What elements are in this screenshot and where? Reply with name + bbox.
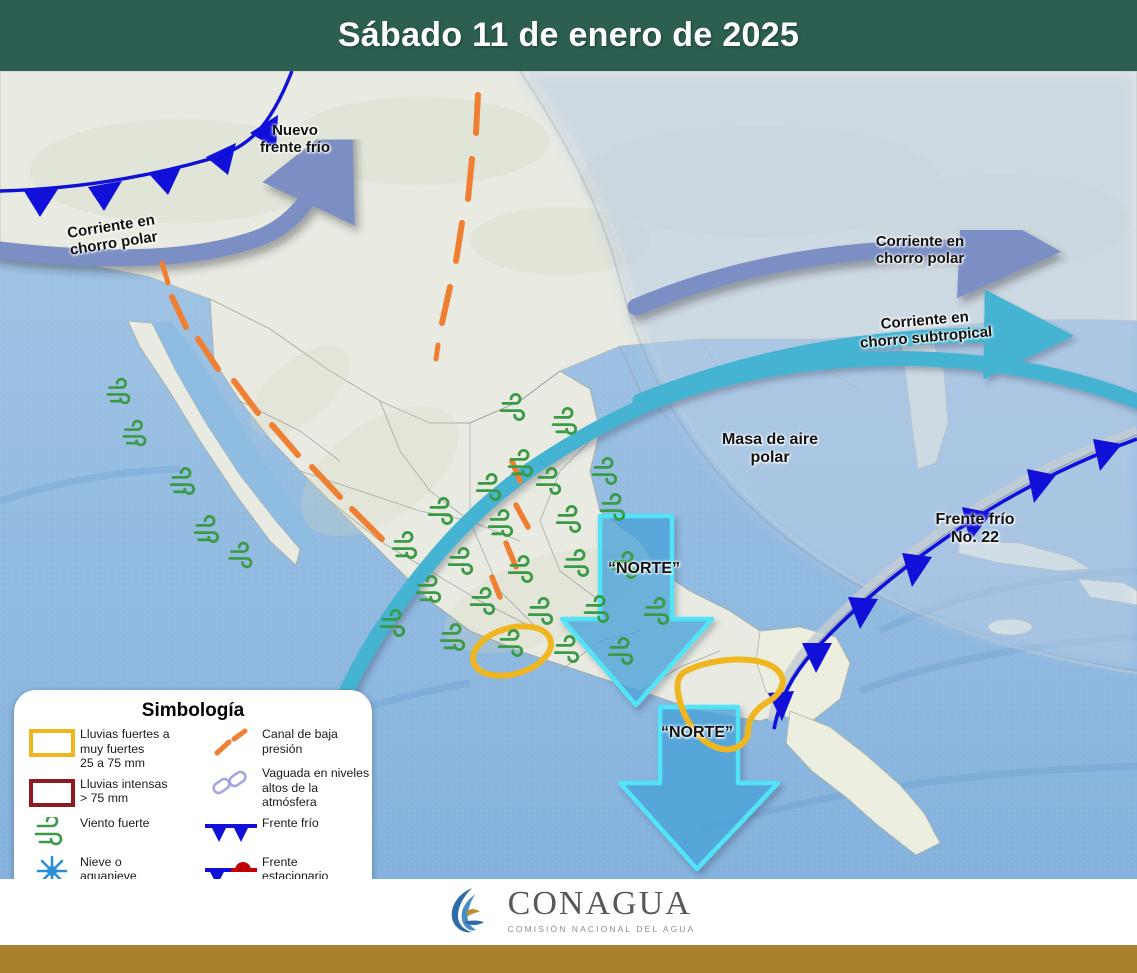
cold-front-icon [200,815,262,849]
chain-link-icon [200,765,262,799]
footer-gold-bar [0,945,1137,973]
legend-title: Simbología [14,700,372,722]
header-bar: Sábado 11 de enero de 2025 [0,0,1137,71]
orange-dash-icon [200,726,262,760]
legend-label: Frente estacionario [262,854,328,880]
page-title: Sábado 11 de enero de 2025 [338,16,799,55]
footer: CONAGUA COMISIÓN NACIONAL DEL AGUA [0,879,1137,973]
legend-label: Canal de baja presión [262,726,338,756]
conagua-logo: CONAGUA COMISIÓN NACIONAL DEL AGUA [0,879,1137,941]
legend-panel: Simbología Lluvias fuertes a muy fuertes… [14,690,372,879]
stationary-front-icon [200,854,262,880]
legend-item-frente-estacionario: Frente estacionario [200,854,372,880]
legend-item-nieve: Nieve o aguanieve [24,854,196,880]
red-rectangle-icon [24,776,80,810]
legend-item-frente-frio: Frente frío [200,815,372,849]
legend-item-canal-baja-presion: Canal de baja presión [200,726,372,760]
weather-map-page: Sábado 11 de enero de 2025 [0,0,1137,973]
conagua-emblem-icon [442,882,498,938]
legend-label: Viento fuerte [80,815,150,831]
legend-item-viento-fuerte: Viento fuerte [24,815,196,849]
legend-label: Lluvias fuertes a muy fuertes 25 a 75 mm [80,726,170,771]
snowflake-icon [24,854,80,880]
legend-column-right: Canal de baja presión Vaguada en nive [196,726,372,879]
weather-map: Nuevo frente frío Corriente en chorro po… [0,71,1137,879]
logo-subtitle: COMISIÓN NACIONAL DEL AGUA [508,924,696,934]
legend-label: Frente frío [262,815,319,831]
legend-label: Vaguada en niveles altos de la atmósfera [262,765,369,810]
wind-swirl-icon [24,815,80,849]
logo-wordmark: CONAGUA [508,887,696,921]
legend-label: Nieve o aguanieve [80,854,137,880]
legend-item-vaguada: Vaguada en niveles altos de la atmósfera [200,765,372,810]
legend-item-lluvias-intensas: Lluvias intensas > 75 mm [24,776,196,810]
legend-column-left: Lluvias fuertes a muy fuertes 25 a 75 mm… [14,726,196,879]
legend-item-lluvias-fuertes: Lluvias fuertes a muy fuertes 25 a 75 mm [24,726,196,771]
yellow-rectangle-icon [24,726,80,760]
legend-label: Lluvias intensas > 75 mm [80,776,168,806]
